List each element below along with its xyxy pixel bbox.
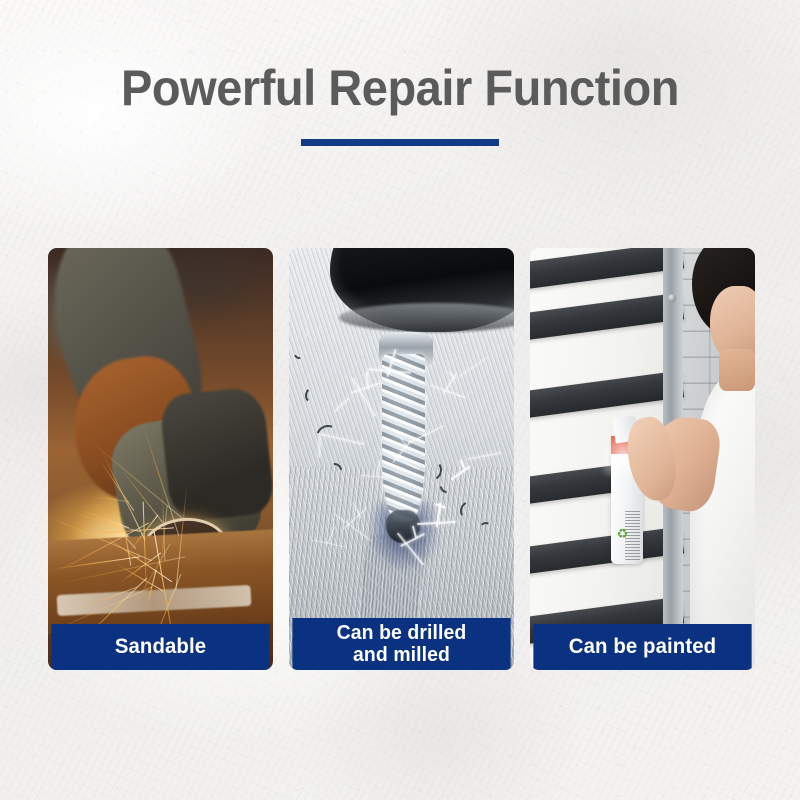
person-neck: [719, 349, 755, 391]
infographic-page: Powerful Repair Function Sandable: [0, 0, 800, 800]
feature-card-sandable[interactable]: Sandable: [48, 248, 273, 670]
caption-line: Can be drilled: [337, 622, 467, 644]
feature-card-painted[interactable]: ♻ Can be painted: [530, 248, 755, 670]
recycling-icon: ♻: [616, 527, 630, 541]
caption-line: Can be painted: [569, 635, 716, 659]
card-caption-sandable: Sandable: [51, 624, 269, 670]
card-caption-drilled-milled: Can be drilled and milled: [292, 618, 510, 670]
drill-bit-milling-photo: [289, 248, 514, 670]
feature-card-drilled-milled[interactable]: Can be drilled and milled: [289, 248, 514, 670]
feature-card-row: Sandable Can be drilled and milled: [48, 248, 755, 670]
metal-chips: [289, 248, 514, 670]
title-underline-bar: [301, 139, 499, 146]
caption-line: and milled: [337, 644, 467, 666]
header: Powerful Repair Function: [0, 62, 800, 146]
spark-streaks: [48, 248, 273, 670]
page-title: Powerful Repair Function: [24, 62, 776, 115]
angle-grinder-sparks-photo: [48, 248, 273, 670]
spray-painting-slats-photo: ♻: [530, 248, 755, 670]
caption-line: Sandable: [115, 635, 206, 659]
card-caption-painted: Can be painted: [533, 624, 751, 670]
